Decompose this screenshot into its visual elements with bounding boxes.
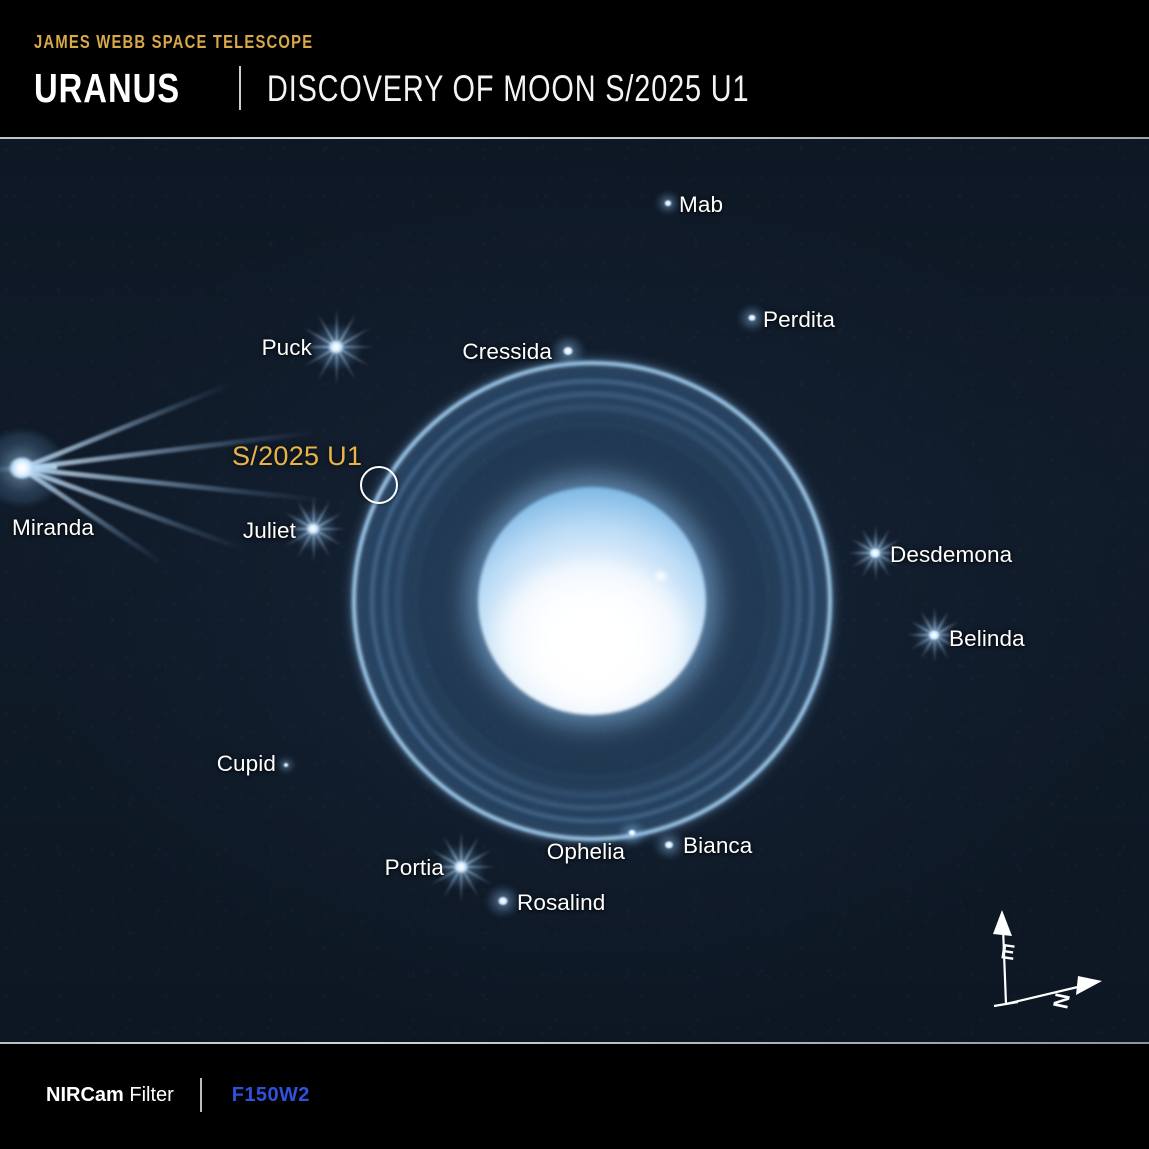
observatory-name: JAMES WEBB SPACE TELESCOPE [34, 31, 313, 53]
discovery-label: S/2025 U1 [232, 441, 362, 472]
moon-point-source [498, 897, 508, 905]
filter-divider [200, 1078, 202, 1112]
filter-legend: NIRCam Filter F150W2 [46, 1080, 310, 1110]
moon-point-source [329, 341, 344, 353]
poster-header: JAMES WEBB SPACE TELESCOPE URANUS DISCOV… [0, 0, 1149, 139]
filter-value: F150W2 [232, 1084, 310, 1107]
moon-point-source [563, 347, 573, 355]
discovery-marker-circle [360, 466, 398, 504]
moon-point-source [870, 549, 881, 558]
moon-point-source [284, 763, 289, 767]
telescope-image: MabPerditaPuckCressidaMirandaJulietDesde… [0, 139, 1149, 1042]
polar-cap [497, 561, 687, 701]
poster-footer: NIRCam Filter F150W2 [0, 1042, 1149, 1149]
title-divider [239, 66, 241, 110]
title-row: URANUS DISCOVERY OF MOON S/2025 U1 [34, 62, 885, 114]
footer-divider-rule [0, 1042, 1149, 1044]
moon-point-source [9, 458, 35, 479]
page-subtitle: DISCOVERY OF MOON S/2025 U1 [267, 70, 749, 107]
uranus-system [0, 139, 1149, 1042]
filter-label-suffix: Filter [124, 1084, 174, 1106]
moon-point-source [665, 200, 672, 206]
atmospheric-bright-spot [655, 571, 668, 582]
moon-point-source [929, 631, 940, 640]
filter-label: NIRCam Filter [46, 1084, 174, 1107]
page-title: URANUS [34, 68, 180, 109]
jwst-uranus-poster: JAMES WEBB SPACE TELESCOPE URANUS DISCOV… [0, 0, 1149, 1149]
filter-instrument-name: NIRCam [46, 1084, 124, 1106]
